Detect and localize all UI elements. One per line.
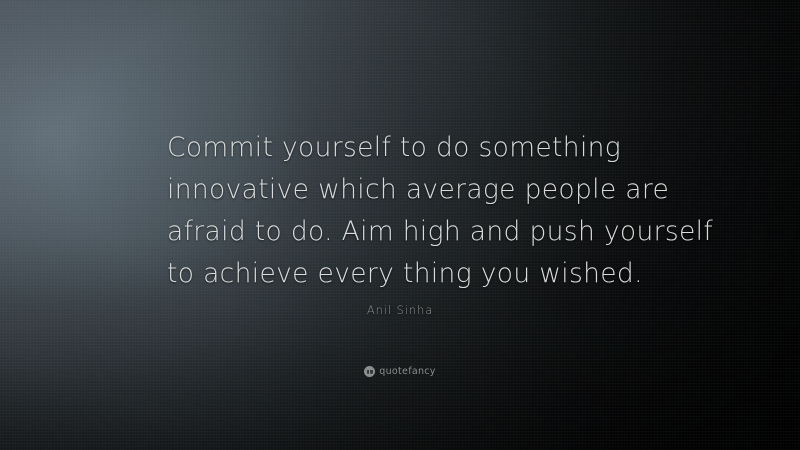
watermark-brand-label: quotefancy: [379, 366, 435, 377]
quote-line: innovative which average people are: [167, 169, 649, 211]
quote-line: Commit yourself to do something: [167, 127, 649, 169]
quote-wallpaper: Commit yourself to do something innovati…: [0, 0, 800, 450]
quote-line: afraid to do. Aim high and push yourself: [167, 211, 649, 253]
quote-author: Anil Sinha: [0, 303, 800, 317]
quotation-mark-icon: [364, 366, 375, 377]
wallpaper-content: Commit yourself to do something innovati…: [0, 0, 800, 450]
quotefancy-watermark: quotefancy: [0, 366, 800, 377]
quote-line: to achieve every thing you wished.: [167, 253, 649, 295]
quote-text-block: Commit yourself to do something innovati…: [167, 127, 649, 295]
